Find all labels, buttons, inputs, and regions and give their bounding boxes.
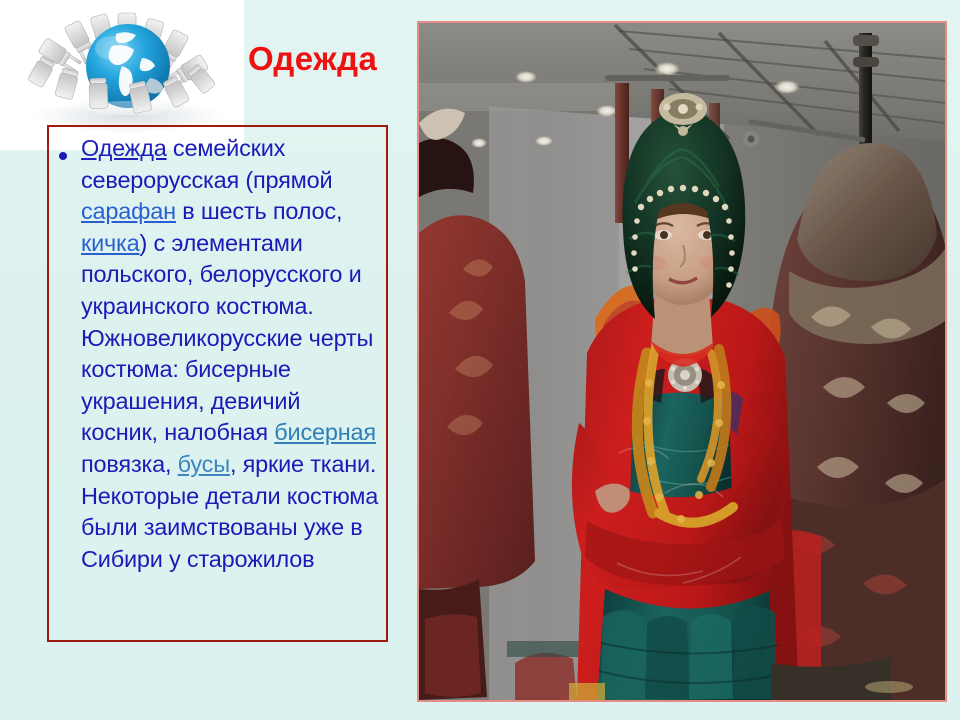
text-run-7: повязка,: [81, 451, 178, 477]
text-run-5: ) с элементами польского, белорусского и…: [81, 230, 373, 446]
inline-link-4[interactable]: кичка: [81, 230, 140, 256]
bullet-list-item: Одежда семейских северорусская (прямой с…: [59, 133, 380, 575]
page-title: Одежда: [248, 42, 418, 75]
slide: Одежда Одежда семейских северорусская (п…: [0, 0, 960, 720]
globe-with-chairs-icon: [12, 4, 244, 136]
text-run-3: в шесть полос,: [176, 198, 342, 224]
inline-link-6[interactable]: бисерная: [274, 419, 376, 445]
bullet-marker: [59, 133, 81, 163]
body-paragraph: Одежда семейских северорусская (прямой с…: [81, 133, 380, 575]
content-textbox: Одежда семейских северорусская (прямой с…: [47, 125, 388, 642]
inline-link-0[interactable]: Одежда: [81, 135, 167, 161]
inline-link-8[interactable]: бусы: [178, 451, 230, 477]
inline-link-2[interactable]: сарафан: [81, 198, 176, 224]
museum-folk-costume-photo: [417, 21, 947, 702]
